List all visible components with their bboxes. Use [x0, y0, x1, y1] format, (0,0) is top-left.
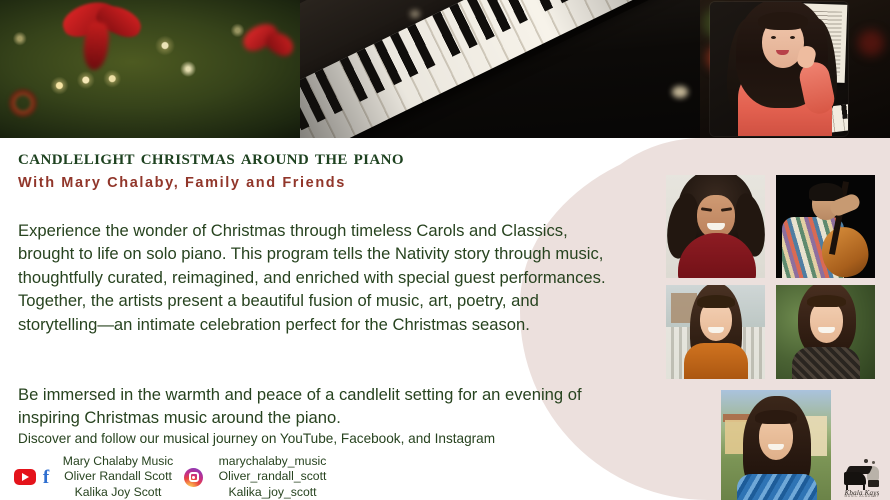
description-paragraph-1: Experience the wonder of Christmas throu… [18, 219, 618, 337]
hero-banner [0, 0, 890, 138]
bokeh-light [672, 86, 688, 98]
logo-sub-text: MUSIC ACADEMY [838, 494, 886, 498]
photo-woman-outdoors-smiling [776, 285, 875, 379]
photo-young-woman-on-porch [666, 285, 765, 379]
blue-patterned-top [737, 474, 817, 500]
smile [707, 223, 725, 230]
brand-logo[interactable]: Kbala Kays MUSIC ACADEMY [838, 458, 886, 498]
christmas-tree-image [0, 0, 330, 138]
face [810, 301, 843, 343]
bangs [697, 295, 735, 308]
smile [708, 327, 724, 333]
channel-names-list: Mary Chalaby Music Oliver Randall Scott … [59, 454, 177, 500]
social-links-row: f Mary Chalaby Music Oliver Randall Scot… [14, 454, 344, 500]
eye [790, 36, 795, 39]
grand-piano-icon [844, 472, 866, 485]
instagram-icon[interactable] [184, 468, 203, 487]
bangs [758, 12, 808, 30]
orange-top [684, 343, 748, 379]
instagram-handles-list: marychalaby_music Oliver_randall_scott K… [210, 454, 335, 500]
page-subtitle: With Mary Chalaby, Family and Friends [18, 176, 618, 191]
bokeh-light [858, 30, 884, 56]
red-ribbon-tail [82, 21, 111, 71]
follow-us-text: Discover and follow our musical journey … [18, 430, 618, 447]
music-note-icon [872, 461, 875, 464]
facebook-icon[interactable]: f [39, 468, 53, 487]
eye [771, 36, 776, 39]
smile [818, 327, 835, 333]
photo-curly-hair-woman-red-scarf [666, 175, 765, 278]
photo-woman-in-italy-blue-top [721, 390, 831, 500]
poster-root: Candlelight Christmas Around the Piano W… [0, 0, 890, 500]
wreath-ornament [8, 88, 38, 118]
youtube-icon[interactable] [14, 469, 36, 485]
artist-portrait-photo [710, 2, 848, 136]
description-paragraph-2: Be immersed in the warmth and peace of a… [18, 383, 603, 430]
bangs [807, 295, 846, 307]
bangs [755, 410, 797, 424]
bokeh-light [410, 10, 420, 18]
music-note-icon [864, 459, 868, 463]
patterned-top [792, 347, 860, 379]
content-column: Candlelight Christmas Around the Piano W… [0, 138, 640, 500]
smile [768, 444, 784, 450]
photo-cellist-playing [776, 175, 875, 278]
piano-bench [868, 480, 879, 487]
page-title: Candlelight Christmas Around the Piano [18, 147, 618, 169]
